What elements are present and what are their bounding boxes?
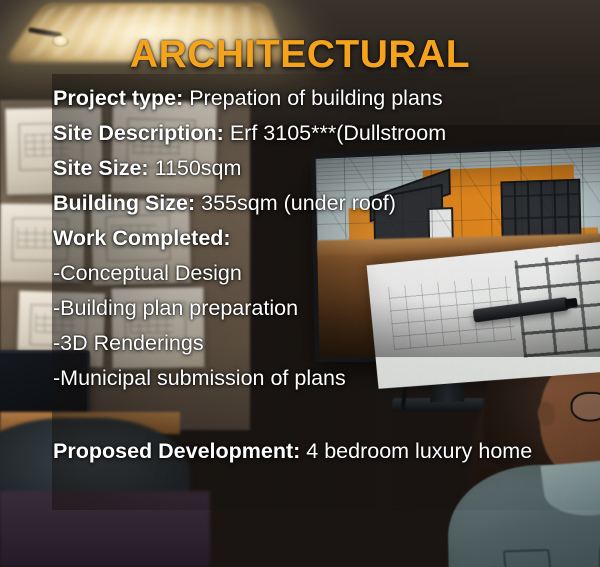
field-site-description: Site Description: Erf 3105***(Dullstroom xyxy=(53,116,600,151)
field-label: Building Size: xyxy=(53,191,195,215)
page-title: ARCHITECTURAL xyxy=(0,33,600,77)
field-building-size: Building Size: 355sqm (under roof) xyxy=(53,186,600,221)
architectural-project-poster: ARCHITECTURAL Project type: Prepation of… xyxy=(0,0,600,567)
field-label: Project type: xyxy=(53,86,183,110)
field-project-type: Project type: Prepation of building plan… xyxy=(53,81,600,116)
field-value: 1150sqm xyxy=(155,156,242,180)
project-details: Project type: Prepation of building plan… xyxy=(53,81,600,469)
field-value: 355sqm (under roof) xyxy=(201,191,396,215)
work-item: -Municipal submission of plans xyxy=(53,361,600,396)
field-site-size: Site Size: 1150sqm xyxy=(53,151,600,186)
field-value: 4 bedroom luxury home xyxy=(306,439,532,463)
work-item: -3D Renderings xyxy=(53,326,600,361)
section-label: Work Completed: xyxy=(53,226,231,250)
work-item: -Conceptual Design xyxy=(53,256,600,291)
office-floor xyxy=(0,491,210,567)
field-value: Erf 3105***(Dullstroom xyxy=(230,121,446,145)
field-value: Prepation of building plans xyxy=(189,86,442,110)
jacket-pocket xyxy=(503,549,553,567)
spacer xyxy=(53,396,600,434)
proposed-development: Proposed Development: 4 bedroom luxury h… xyxy=(53,434,600,469)
work-item: -Building plan preparation xyxy=(53,291,600,326)
field-label: Site Description: xyxy=(53,121,224,145)
field-label: Site Size: xyxy=(53,156,149,180)
field-label: Proposed Development: xyxy=(53,439,300,463)
work-completed-heading: Work Completed: xyxy=(53,221,600,256)
background-photo: ARCHITECTURAL Project type: Prepation of… xyxy=(0,0,600,567)
